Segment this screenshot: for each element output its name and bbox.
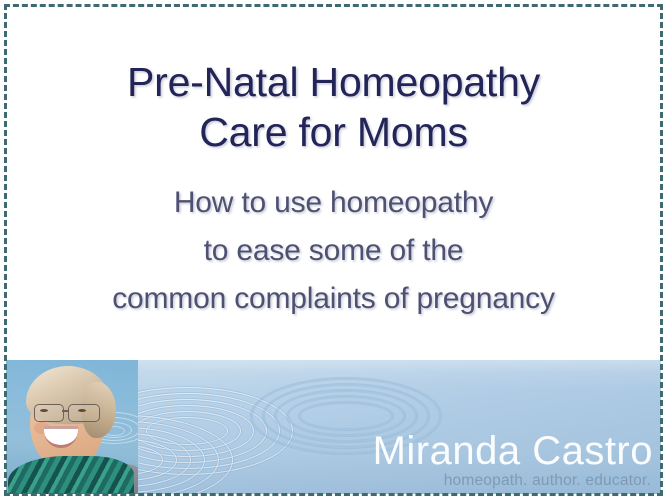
water-ripple-icon [299,402,393,430]
slide-title-line-2: Care for Moms [0,107,667,157]
brand-banner: Miranda Castro homeopath. author. educat… [6,360,661,494]
eyeglass-lens-right [68,404,100,422]
eyeglasses-icon [32,404,104,421]
brand-name: Miranda Castro [373,429,653,473]
portrait-eye-right [78,409,86,412]
author-portrait-photo [6,360,138,494]
slide-text-area: Pre-Natal Homeopathy Care for Moms How t… [0,0,667,360]
brand-lockup: Miranda Castro homeopath. author. educat… [373,429,653,490]
portrait-eye-left [40,409,48,412]
portrait-scarf [8,456,134,494]
slide-subtitle-line-3: common complaints of pregnancy [0,275,667,323]
eyeglass-lens-left [34,404,64,422]
eyeglass-bridge [62,410,69,412]
slide-title-line-1: Pre-Natal Homeopathy [0,0,667,107]
slide-subtitle-line-2: to ease some of the [0,227,667,275]
brand-tagline: homeopath. author. educator. [373,471,651,490]
slide-subtitle-line-1: How to use homeopathy [0,157,667,227]
presentation-slide: Pre-Natal Homeopathy Care for Moms How t… [0,0,667,500]
